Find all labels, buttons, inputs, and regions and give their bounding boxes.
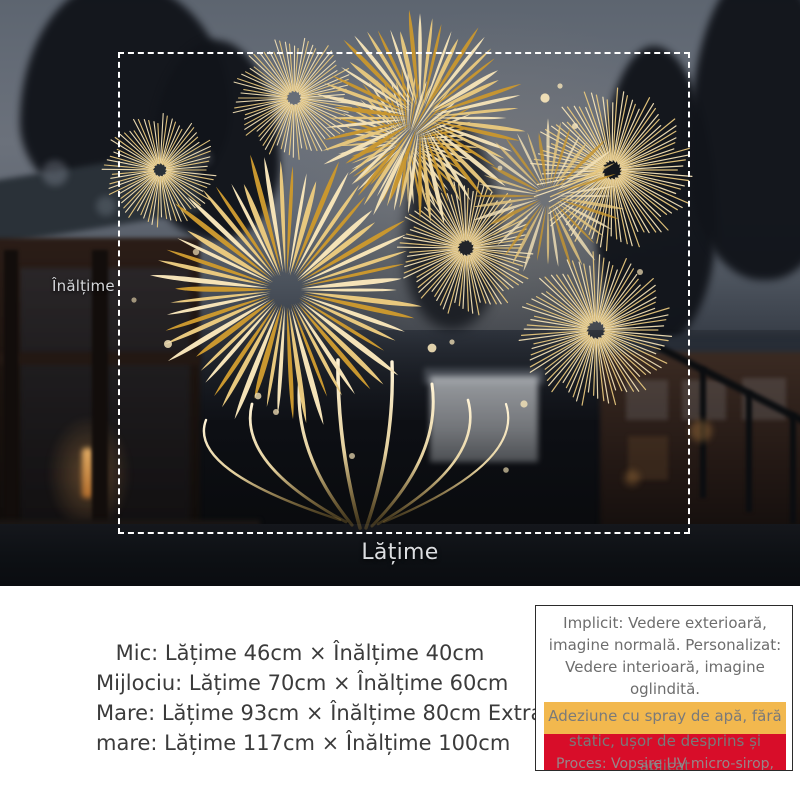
process-note: Proces: Vopsire UV micro-sirop, aceeași … [536, 753, 793, 771]
size-line-extra-large: mare: Lățime 117cm × Înălțime 100cm [96, 728, 504, 758]
height-label: Înălțime [52, 277, 115, 295]
fireworks-artwork [0, 0, 800, 586]
size-options-text: Mic: Lățime 46cm × Înălțime 40cm Mijloci… [96, 638, 504, 758]
product-image-page: Înălțime Lățime Mic: Lățime 46cm × Înălț… [0, 0, 800, 800]
size-line-large: Mare: Lățime 93cm × Înălțime 80cm Extra [96, 698, 504, 728]
product-photo: Înălțime Lățime [0, 0, 800, 586]
size-line-medium: Mijlociu: Lățime 70cm × Înălțime 60cm [96, 668, 504, 698]
size-line-small: Mic: Lățime 46cm × Înălțime 40cm [96, 638, 504, 668]
product-note-box: Implicit: Vedere exterioară, imagine nor… [535, 605, 793, 771]
width-label: Lățime [0, 540, 800, 565]
info-section: Mic: Lățime 46cm × Înălțime 40cm Mijloci… [0, 586, 800, 800]
view-mode-note: Implicit: Vedere exterioară, imagine nor… [536, 612, 793, 700]
